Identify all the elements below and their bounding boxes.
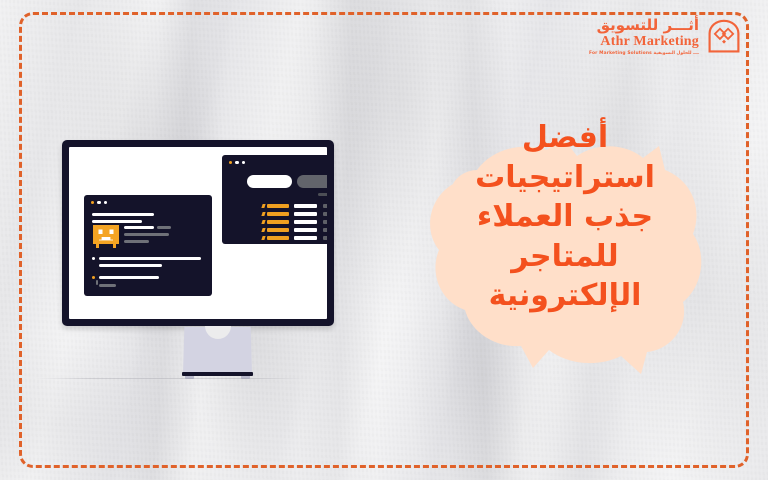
desk-shadow-line: [36, 378, 306, 379]
athr-diamond-arch-logo-icon: [706, 19, 742, 55]
code-line-3: [99, 257, 201, 260]
row-orange-bar-3: [267, 220, 289, 224]
logo-english-name: Athr Marketing: [600, 35, 699, 49]
code-line-2: [92, 220, 142, 223]
row-orange-bar-5: [267, 236, 289, 240]
row-white-bar-2: [294, 212, 317, 216]
monitor-stand: [183, 327, 252, 377]
row-gray-bar-4: [323, 228, 327, 232]
row-white-bar-5: [294, 236, 317, 240]
code-editor-window: [84, 195, 212, 296]
row-orange-bar-2: [267, 212, 289, 216]
code-line-1: [92, 213, 154, 216]
page-title: أفضل استراتيجيات جذب العملاء للمتاجر الإ…: [430, 118, 700, 316]
headline-line-2: استراتيجيات: [430, 158, 700, 198]
pixel-smiley-icon: [93, 225, 119, 249]
brand-logo[interactable]: أثـــر للتسويق Athr Marketing For Market…: [589, 18, 742, 56]
titlebar-dot-white-2: [242, 161, 245, 164]
code-inline-3: [124, 233, 169, 236]
row-white-bar-1: [294, 204, 317, 208]
headline-line-3: جذب العملاء: [430, 197, 700, 237]
row-slash-2: [261, 212, 265, 216]
code-line-4: [99, 264, 162, 267]
poster-canvas: أثـــر للتسويق Athr Marketing For Market…: [0, 0, 768, 480]
dashboard-primary-button[interactable]: [247, 175, 292, 188]
monitor-screen: [69, 147, 327, 319]
editor-dot-white-1: [97, 201, 100, 204]
row-white-bar-4: [294, 228, 317, 232]
row-white-bar-3: [294, 220, 317, 224]
titlebar-dot-orange: [229, 161, 232, 164]
row-orange-bar-4: [267, 228, 289, 232]
row-gray-bar-5: [323, 236, 327, 240]
code-line-6: [99, 284, 116, 287]
row-slash-1: [261, 204, 265, 208]
bullet-orange: [92, 276, 95, 279]
dashboard-subtext-bar: [318, 193, 327, 196]
logo-arabic-name: أثـــر للتسويق: [597, 18, 699, 33]
headline-line-4: للمتاجر: [430, 237, 700, 277]
code-indent-guide: [96, 280, 98, 285]
code-inline-1: [124, 226, 154, 229]
editor-titlebar-dots: [84, 195, 212, 204]
code-inline-4: [124, 240, 149, 243]
window-titlebar-dots: [222, 155, 327, 164]
editor-dot-white-2: [104, 201, 107, 204]
row-slash-3: [261, 220, 265, 224]
bullet-white: [92, 257, 95, 260]
logo-tagline: For Marketing Solutions ــــ للحلول التس…: [589, 52, 699, 56]
dashboard-secondary-button[interactable]: [297, 175, 327, 188]
headline-line-5: الإلكترونية: [430, 276, 700, 316]
row-slash-4: [261, 228, 265, 232]
monitor-bezel: [62, 140, 334, 326]
headline-line-1: أفضل: [430, 118, 700, 158]
row-gray-bar-1: [323, 204, 327, 208]
code-inline-2: [157, 226, 171, 229]
row-gray-bar-2: [323, 212, 327, 216]
row-gray-bar-3: [323, 220, 327, 224]
code-line-5: [99, 276, 159, 279]
dashboard-window: [222, 155, 327, 244]
row-slash-5: [261, 236, 265, 240]
monitor-illustration: [62, 140, 334, 326]
row-orange-bar-1: [267, 204, 289, 208]
titlebar-dot-white-1: [235, 161, 238, 164]
editor-dot-orange: [91, 201, 94, 204]
logo-text-block: أثـــر للتسويق Athr Marketing For Market…: [589, 18, 699, 56]
